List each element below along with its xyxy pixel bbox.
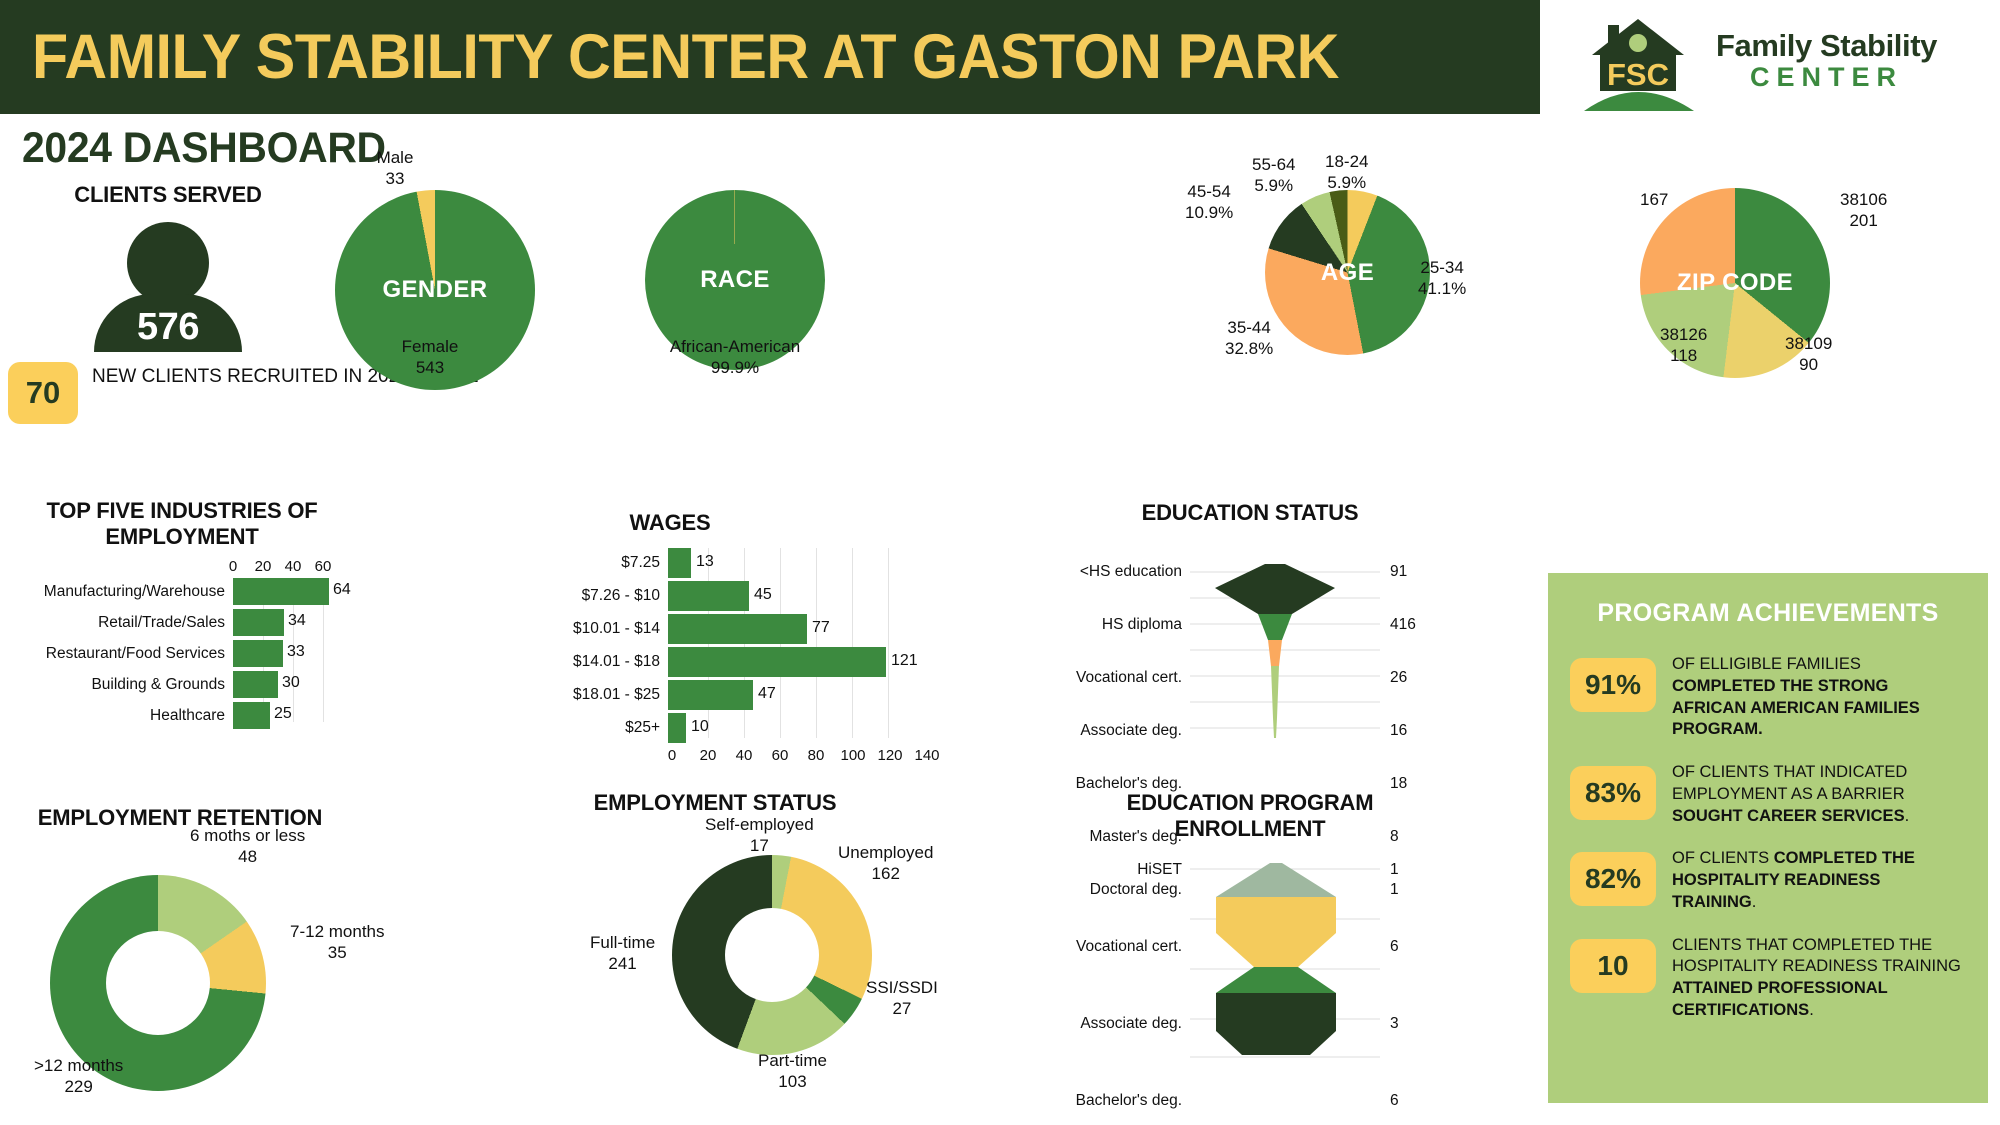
bar-value: 34	[288, 612, 306, 630]
funnel-value: 3	[1390, 1015, 1399, 1033]
bar-fill	[668, 581, 749, 611]
bar-value: 13	[696, 553, 714, 571]
retention-gt12-name: >12 months	[34, 1056, 123, 1077]
achievement-item: 91% OF ELLIGIBLE FAMILIES COMPLETED THE …	[1570, 652, 1966, 741]
zip-code-pie-label: ZIP CODE	[1640, 269, 1830, 297]
tick-40: 40	[285, 558, 302, 575]
table-row: $7.25 13	[540, 548, 920, 578]
table-row: Retail/Trade/Sales 34	[10, 609, 350, 636]
dashboard-page: FAMILY STABILITY CENTER AT GASTON PARK F…	[0, 0, 2000, 1125]
achievement-text-post: .	[1752, 893, 1757, 911]
funnel-label: HS diploma	[1102, 616, 1182, 634]
bar-label: Manufacturing/Warehouse	[10, 583, 233, 601]
funnel-row: Bachelor's deg. 6	[1070, 1086, 1430, 1113]
zip-38106-name: 38106	[1840, 190, 1887, 211]
bar-fill	[233, 671, 278, 698]
tick-20: 20	[700, 747, 717, 764]
tick-60: 60	[315, 558, 332, 575]
retention-6-value: 48	[190, 847, 305, 868]
bar-value: 33	[287, 643, 305, 661]
zip-38106-value: 201	[1840, 211, 1887, 232]
wages-title: WAGES	[560, 510, 780, 536]
brand-line-1: Family Stability	[1716, 30, 1937, 63]
age-label-55-64: 55-64 5.9%	[1252, 155, 1295, 196]
status-ssi-name: SSI/SSDI	[866, 978, 938, 999]
achievement-text-post: .	[1905, 807, 1910, 825]
bar-value: 45	[754, 586, 772, 604]
funnel-value: 16	[1390, 722, 1407, 740]
age-45-54-value: 10.9%	[1185, 203, 1233, 224]
bar-fill	[233, 640, 283, 667]
achievement-text-pre: OF CLIENTS	[1672, 849, 1774, 867]
gender-female-name: Female	[390, 337, 470, 358]
achievement-item: 82% OF CLIENTS COMPLETED THE HOSPITALITY…	[1570, 846, 1966, 913]
status-full-name: Full-time	[590, 933, 655, 954]
education-status-title-wrap: EDUCATION STATUS	[1070, 500, 1430, 526]
retention-label-6-or-less: 6 moths or less 48	[190, 826, 305, 867]
wages-title-wrap: WAGES	[560, 510, 780, 536]
tick-100: 100	[840, 747, 865, 764]
bar-fill	[668, 548, 691, 578]
bar-label: $14.01 - $18	[540, 653, 668, 671]
donut-hole	[106, 931, 210, 1035]
zip-other-value: 167	[1640, 190, 1668, 211]
retention-label-7-12: 7-12 months 35	[290, 922, 385, 963]
zip-label-38106: 38106 201	[1840, 190, 1887, 231]
funnel-value: 6	[1390, 938, 1399, 956]
status-self-name: Self-employed	[705, 815, 814, 836]
employment-status-title: EMPLOYMENT STATUS	[555, 790, 875, 816]
tick-0: 0	[229, 558, 237, 575]
funnel-label: Vocational cert.	[1076, 938, 1182, 956]
race-name: African-American	[655, 337, 815, 358]
achievement-text-post: .	[1809, 1001, 1814, 1019]
funnel-label: HiSET	[1137, 861, 1182, 879]
age-18-24-name: 18-24	[1325, 152, 1368, 173]
funnel-label: Associate deg.	[1080, 1015, 1182, 1033]
zip-label-other: 167	[1640, 190, 1668, 211]
achievement-stat-badge: 91%	[1570, 658, 1656, 712]
funnel-row: Vocational cert. 6	[1070, 932, 1430, 959]
table-row: $25+ 10	[540, 713, 920, 743]
race-value: 99.9%	[655, 358, 815, 379]
donut-hole	[725, 908, 819, 1002]
person-head-shape	[127, 222, 209, 304]
achievement-item: 10 CLIENTS THAT COMPLETED THE HOSPITALIT…	[1570, 933, 1966, 1022]
race-pie-label: RACE	[645, 266, 825, 294]
bar-value: 30	[282, 674, 300, 692]
wages-chart: $7.25 13 $7.26 - $10 45 $10.01 - $14 77	[540, 548, 920, 767]
gender-pie-label: GENDER	[335, 276, 535, 304]
tick-40: 40	[736, 747, 753, 764]
achievement-text-bold: COMPLETED THE STRONG AFRICAN AMERICAN FA…	[1672, 677, 1920, 739]
tick-120: 120	[877, 747, 902, 764]
top-industries-chart: 0 20 40 60 Manufacturing/Warehouse 64 Re…	[10, 558, 350, 733]
clients-served-title: CLIENTS SERVED	[18, 182, 318, 208]
age-25-34-name: 25-34	[1418, 258, 1466, 279]
gender-male-name: Male	[355, 148, 435, 169]
achievement-stat-badge: 10	[1570, 939, 1656, 993]
age-label-35-44: 35-44 32.8%	[1225, 318, 1273, 359]
gender-label-male: Male 33	[355, 148, 435, 189]
top-industries-title: TOP FIVE INDUSTRIES OF EMPLOYMENT	[32, 498, 332, 550]
bar-label: $25+	[540, 719, 668, 737]
funnel-row: Vocational cert. 26	[1070, 664, 1430, 691]
brand-line-2: CENTER	[1716, 63, 1937, 91]
bar-value: 25	[274, 705, 292, 723]
age-25-34-value: 41.1%	[1418, 279, 1466, 300]
brand-logo: FSC Family Stability CENTER	[1580, 8, 1990, 113]
new-clients-badge: 70	[8, 362, 78, 424]
achievement-stat-badge: 82%	[1570, 852, 1656, 906]
achievement-text-bold: ATTAINED PROFESSIONAL CERTIFICATIONS	[1672, 979, 1887, 1019]
funnel-label: <HS education	[1080, 563, 1182, 581]
wages-axis: 0 20 40 60 80 100 120 140	[540, 747, 920, 767]
house-logo-icon: FSC	[1580, 11, 1698, 111]
bar-value: 47	[758, 685, 776, 703]
wages-bars: $7.25 13 $7.26 - $10 45 $10.01 - $14 77	[540, 548, 920, 743]
status-label-unemployed: Unemployed 162	[838, 843, 933, 884]
bar-fill	[233, 578, 329, 605]
education-program-title-wrap: EDUCATION PROGRAM ENROLLMENT	[1070, 790, 1430, 842]
funnel-label: Associate deg.	[1080, 722, 1182, 740]
program-achievements-panel: PROGRAM ACHIEVEMENTS 91% OF ELLIGIBLE FA…	[1548, 573, 1988, 1103]
svg-text:FSC: FSC	[1607, 57, 1669, 92]
funnel-value: 6	[1390, 1092, 1399, 1110]
zip-38109-name: 38109	[1785, 334, 1832, 355]
achievement-text: OF ELLIGIBLE FAMILIES COMPLETED THE STRO…	[1672, 652, 1966, 741]
bar-fill	[233, 702, 270, 729]
status-ssi-value: 27	[866, 999, 938, 1020]
status-label-part-time: Part-time 103	[758, 1051, 827, 1092]
achievement-text: CLIENTS THAT COMPLETED THE HOSPITALITY R…	[1672, 933, 1966, 1022]
bar-fill	[668, 647, 886, 677]
age-35-44-value: 32.8%	[1225, 339, 1273, 360]
education-status-title: EDUCATION STATUS	[1070, 500, 1430, 526]
zip-label-38126: 38126 118	[1660, 325, 1707, 366]
age-label-45-54: 45-54 10.9%	[1185, 182, 1233, 223]
funnel-value: 26	[1390, 669, 1407, 687]
status-label-full-time: Full-time 241	[590, 933, 655, 974]
funnel-row: Associate deg. 16	[1070, 717, 1430, 744]
funnel-row: HS diploma 416	[1070, 611, 1430, 638]
zip-label-38109: 38109 90	[1785, 334, 1832, 375]
age-label-25-34: 25-34 41.1%	[1418, 258, 1466, 299]
funnel-row: HiSET 1	[1070, 855, 1430, 882]
table-row: Restaurant/Food Services 33	[10, 640, 350, 667]
status-label-ssi: SSI/SSDI 27	[866, 978, 938, 1019]
clients-served-total: 576	[18, 306, 318, 349]
age-label-18-24: 18-24 5.9%	[1325, 152, 1368, 193]
bar-label: Retail/Trade/Sales	[10, 614, 233, 632]
zip-38126-value: 118	[1660, 346, 1707, 367]
status-unemployed-value: 162	[838, 864, 933, 885]
achievement-stat-badge: 83%	[1570, 766, 1656, 820]
funnel-row: Associate deg. 3	[1070, 1009, 1430, 1036]
table-row: Healthcare 25	[10, 702, 350, 729]
age-18-24-value: 5.9%	[1325, 173, 1368, 194]
tick-60: 60	[772, 747, 789, 764]
achievement-text: OF CLIENTS COMPLETED THE HOSPITALITY REA…	[1672, 846, 1966, 913]
funnel-label: Bachelor's deg.	[1076, 1092, 1182, 1110]
funnel-value: 91	[1390, 563, 1407, 581]
funnel-label: Vocational cert.	[1076, 669, 1182, 687]
status-full-value: 241	[590, 954, 655, 975]
funnel-value: 1	[1390, 861, 1399, 879]
status-unemployed-name: Unemployed	[838, 843, 933, 864]
age-pie-label: AGE	[1265, 259, 1430, 287]
achievement-item: 83% OF CLIENTS THAT INDICATED EMPLOYMENT…	[1570, 760, 1966, 827]
status-self-value: 17	[705, 836, 814, 857]
race-label: African-American 99.9%	[655, 337, 815, 378]
achievement-text: OF CLIENTS THAT INDICATED EMPLOYMENT AS …	[1672, 760, 1966, 827]
employment-status-chart	[672, 855, 872, 1055]
age-45-54-name: 45-54	[1185, 182, 1233, 203]
bar-label: Building & Grounds	[10, 676, 233, 694]
retention-6-name: 6 moths or less	[190, 826, 305, 847]
table-row: Building & Grounds 30	[10, 671, 350, 698]
tick-0: 0	[668, 747, 676, 764]
gender-female-value: 543	[390, 358, 470, 379]
top-industries-title-wrap: TOP FIVE INDUSTRIES OF EMPLOYMENT	[32, 498, 332, 550]
table-row: $14.01 - $18 121	[540, 647, 920, 677]
employment-status-title-wrap: EMPLOYMENT STATUS	[555, 790, 875, 816]
retention-7-12-value: 35	[290, 943, 385, 964]
achievement-text-pre: OF CLIENTS THAT INDICATED EMPLOYMENT AS …	[1672, 763, 1907, 803]
funnel-row: <HS education 91	[1070, 558, 1430, 585]
bar-fill	[668, 614, 807, 644]
table-row: $10.01 - $14 77	[540, 614, 920, 644]
retention-7-12-name: 7-12 months	[290, 922, 385, 943]
program-achievements-title: PROGRAM ACHIEVEMENTS	[1570, 599, 1966, 628]
achievement-text-bold: SOUGHT CAREER SERVICES	[1672, 807, 1905, 825]
employment-status-donut	[672, 855, 872, 1055]
table-row: $7.26 - $10 45	[540, 581, 920, 611]
clients-served-card: CLIENTS SERVED 576	[18, 182, 318, 352]
age-55-64-name: 55-64	[1252, 155, 1295, 176]
achievement-text-pre: CLIENTS THAT COMPLETED THE HOSPITALITY R…	[1672, 936, 1961, 976]
achievement-text-pre: OF ELLIGIBLE FAMILIES	[1672, 655, 1861, 673]
bar-value: 64	[333, 581, 351, 599]
table-row: $18.01 - $25 47	[540, 680, 920, 710]
bar-label: $7.26 - $10	[540, 587, 668, 605]
tick-80: 80	[808, 747, 825, 764]
page-title: FAMILY STABILITY CENTER AT GASTON PARK	[0, 21, 1339, 93]
status-part-value: 103	[758, 1072, 827, 1093]
zip-38126-name: 38126	[1660, 325, 1707, 346]
table-row: Manufacturing/Warehouse 64	[10, 578, 350, 605]
tick-140: 140	[914, 747, 939, 764]
bar-label: $7.25	[540, 554, 668, 572]
bar-value: 77	[812, 619, 830, 637]
bar-value: 10	[691, 718, 709, 736]
age-35-44-name: 35-44	[1225, 318, 1273, 339]
bar-value: 121	[891, 652, 918, 670]
retention-label-gt-12: >12 months 229	[34, 1056, 123, 1097]
age-55-64-value: 5.9%	[1252, 176, 1295, 197]
person-icon: 576	[18, 222, 318, 352]
status-part-name: Part-time	[758, 1051, 827, 1072]
bar-label: $18.01 - $25	[540, 686, 668, 704]
retention-gt12-value: 229	[34, 1077, 123, 1098]
top-industries-bars: Manufacturing/Warehouse 64 Retail/Trade/…	[10, 578, 350, 729]
bar-label: $10.01 - $14	[540, 620, 668, 638]
gender-label-female: Female 543	[390, 337, 470, 378]
age-chart: AGE	[1265, 190, 1430, 355]
zip-38109-value: 90	[1785, 355, 1832, 376]
dashboard-subtitle: 2024 DASHBOARD	[22, 124, 386, 173]
funnel-value: 416	[1390, 616, 1416, 634]
brand-text: Family Stability CENTER	[1716, 30, 1937, 91]
bar-fill	[233, 609, 284, 636]
bar-fill	[668, 680, 753, 710]
education-program-chart: HiSET 1 Vocational cert. 6 Associate deg…	[1070, 855, 1430, 1065]
tick-20: 20	[255, 558, 272, 575]
bar-fill	[668, 713, 686, 743]
bar-label: Restaurant/Food Services	[10, 645, 233, 663]
age-pie: AGE	[1265, 190, 1430, 355]
gender-male-value: 33	[355, 169, 435, 190]
status-label-self-employed: Self-employed 17	[705, 815, 814, 856]
bar-label: Healthcare	[10, 707, 233, 725]
top-industries-axis: 0 20 40 60	[10, 558, 350, 578]
header-bar: FAMILY STABILITY CENTER AT GASTON PARK	[0, 0, 1540, 114]
education-program-title: EDUCATION PROGRAM ENROLLMENT	[1070, 790, 1430, 842]
education-status-chart: <HS education 91 HS diploma 416 Vocation…	[1070, 558, 1430, 748]
